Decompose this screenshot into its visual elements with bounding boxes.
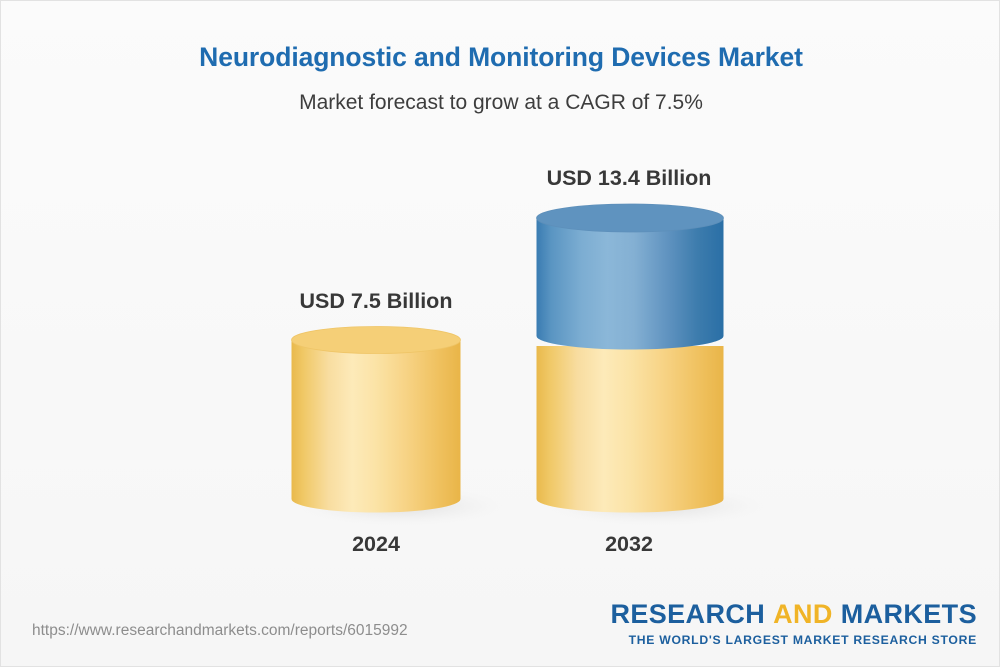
cylinder-bar-chart [1, 1, 1000, 667]
bar-2024 [292, 327, 507, 527]
brand-name: RESEARCH AND MARKETS [610, 601, 977, 628]
brand-word-research: RESEARCH [610, 599, 765, 629]
category-label-2024: 2024 [296, 532, 456, 557]
value-label-2024: USD 7.5 Billion [276, 289, 476, 314]
category-label-2032: 2032 [549, 532, 709, 557]
bar-2032-base-yellow [537, 346, 724, 513]
value-label-2032: USD 13.4 Billion [529, 166, 729, 191]
source-url[interactable]: https://www.researchandmarkets.com/repor… [32, 622, 408, 640]
bar-2032 [537, 204, 769, 526]
bar-2024-body [292, 340, 461, 513]
brand-word-and: AND [773, 599, 833, 629]
bar-2032-segment-blue [537, 218, 724, 350]
brand-word-markets: MARKETS [841, 599, 977, 629]
brand-tagline: THE WORLD'S LARGEST MARKET RESEARCH STOR… [610, 634, 977, 646]
infographic-canvas: Neurodiagnostic and Monitoring Devices M… [0, 0, 1000, 667]
brand-logo: RESEARCH AND MARKETS THE WORLD'S LARGEST… [610, 601, 977, 646]
